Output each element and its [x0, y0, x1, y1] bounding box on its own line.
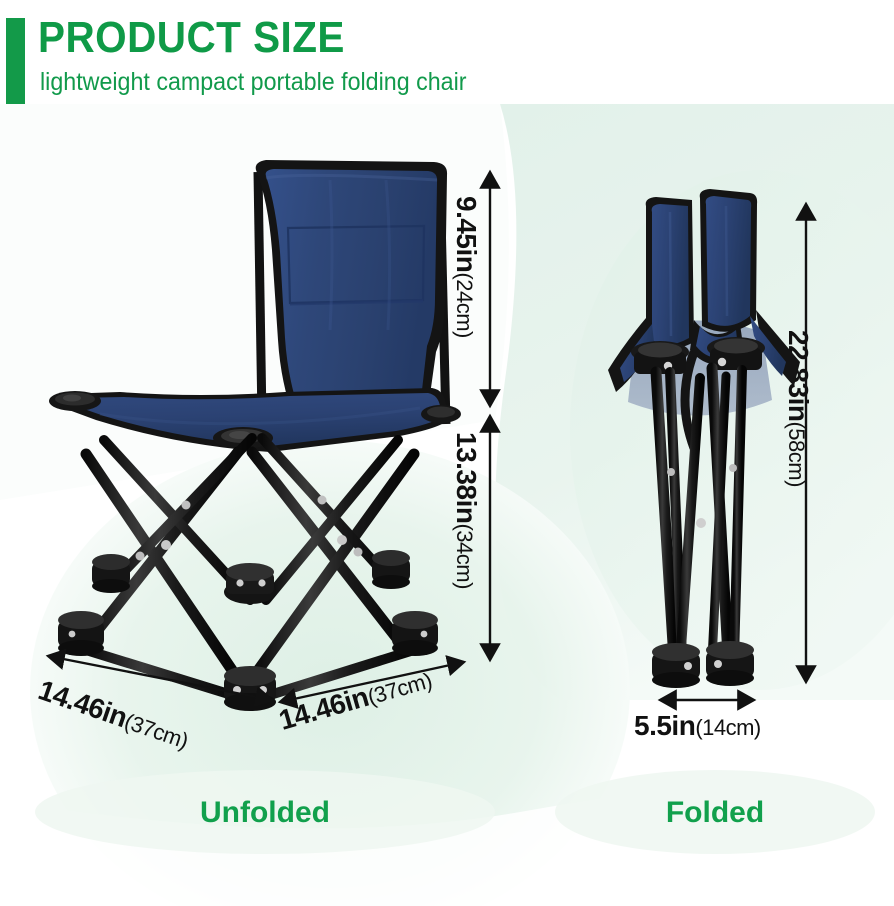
header-accent-bar [6, 18, 25, 104]
header: PRODUCT SIZE lightweight campact portabl… [0, 0, 894, 112]
product-illustration-stage [0, 0, 894, 906]
chair-back-post-left [258, 172, 262, 420]
chair-rivet-6 [318, 496, 327, 505]
chair-rivet-1 [161, 540, 171, 550]
chair-foot-cap-front-left [58, 611, 104, 656]
chair-foot-cap-rear-right [372, 550, 410, 589]
folded-foot-cap-right [706, 641, 754, 686]
chair-rivet-5 [182, 501, 191, 510]
chair-seat-corner-hub-right [421, 405, 461, 423]
chair-center-lower-hub [224, 563, 276, 604]
page-subtitle: lightweight campact portable folding cha… [40, 70, 466, 95]
unfolded-chair-illustration [49, 160, 461, 711]
folded-rivet-left [667, 468, 675, 476]
chair-foot-cap-front-right [392, 611, 438, 656]
chair-foot-cap-rear-left [92, 554, 130, 593]
chair-rivet-4 [354, 548, 363, 557]
chair-rivet-2 [136, 552, 145, 561]
folded-chair-illustration [608, 189, 800, 688]
folded-tube-5 [734, 370, 742, 658]
folded-rivet-right [729, 464, 737, 472]
folded-foot-cap-left [652, 643, 700, 688]
chair-bottom-center-hub [224, 666, 276, 711]
folded-rivet-center [696, 518, 706, 528]
page-title: PRODUCT SIZE [38, 16, 345, 60]
chair-backrest-fabric [266, 169, 437, 394]
chair-seat-corner-hub-left [49, 391, 101, 411]
chair-rivet-3 [337, 535, 347, 545]
chair-spreader-right [254, 650, 414, 700]
